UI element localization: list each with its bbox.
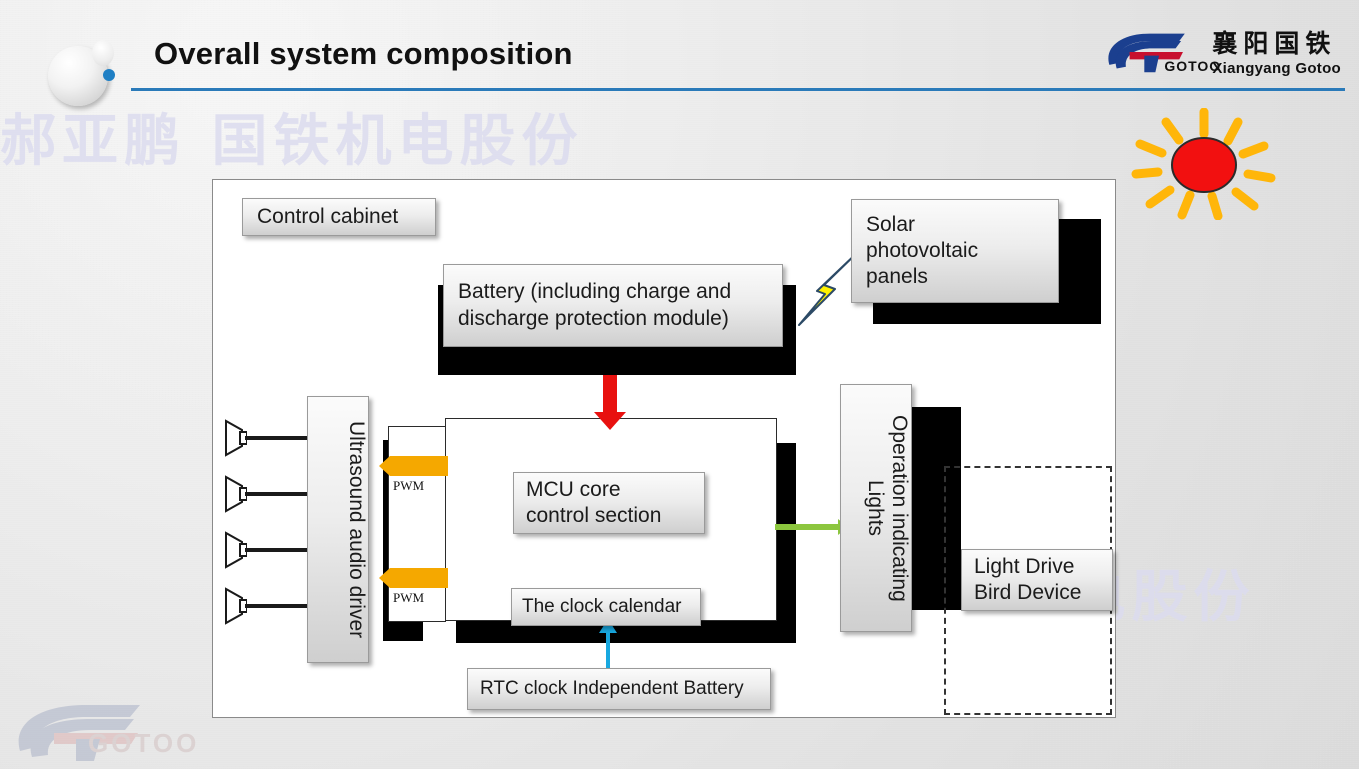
speaker-wire	[245, 492, 308, 496]
brand-english-name: Xiangyang Gotoo	[1212, 61, 1341, 76]
speaker-icon	[223, 587, 247, 625]
system-diagram-frame: PWM PWM Control cabinet Battery (includi…	[212, 179, 1116, 718]
battery-label: Battery (including charge and discharge …	[458, 279, 768, 332]
indicator-signal-arrow	[775, 524, 839, 530]
brand-logo-top-right: GOTOO 襄阳国铁 Xiangyang Gotoo	[1102, 24, 1341, 82]
brand-chinese-name: 襄阳国铁	[1212, 31, 1341, 56]
decorative-sphere-small-icon	[92, 40, 114, 66]
operation-lights-label: Operation indicating Lights	[841, 385, 911, 631]
pwm-arrow-top	[390, 456, 448, 476]
clock-calendar-label: The clock calendar	[522, 596, 681, 618]
pwm-label-top: PWM	[393, 478, 424, 494]
clock-calendar-box[interactable]: The clock calendar	[511, 588, 701, 626]
speaker-icon	[223, 419, 247, 457]
mcu-core-label: MCU core control section	[526, 477, 661, 528]
speaker-icon	[223, 475, 247, 513]
watermark-text-top: 郝亚鹏 国铁机电股份	[0, 96, 584, 177]
light-drive-bird-box[interactable]: Light Drive Bird Device	[961, 549, 1113, 611]
pwm-label-bottom: PWM	[393, 590, 424, 606]
control-cabinet-box[interactable]: Control cabinet	[242, 198, 436, 236]
power-flow-arrow	[603, 375, 617, 413]
rtc-battery-box[interactable]: RTC clock Independent Battery	[467, 668, 771, 710]
control-cabinet-label: Control cabinet	[257, 205, 398, 229]
pwm-arrow-bottom	[390, 568, 448, 588]
gotoo-wordmark: GOTOO	[1164, 58, 1221, 74]
solar-panels-label: Solar photovoltaic panels	[866, 212, 978, 290]
sun-icon	[1130, 108, 1278, 220]
solar-panels-box[interactable]: Solar photovoltaic panels	[851, 199, 1059, 303]
decorative-dot-icon	[103, 69, 115, 81]
speaker-wire	[245, 604, 308, 608]
rtc-battery-label: RTC clock Independent Battery	[480, 678, 744, 700]
page-title: Overall system composition	[154, 36, 573, 72]
operation-lights-box[interactable]: Operation indicating Lights	[840, 384, 912, 632]
mcu-core-box[interactable]: MCU core control section	[513, 472, 705, 534]
light-drive-bird-label: Light Drive Bird Device	[974, 554, 1081, 605]
ultrasound-driver-box[interactable]: Ultrasound audio driver	[307, 396, 369, 663]
title-underline	[131, 88, 1345, 91]
speaker-icon	[223, 531, 247, 569]
slide-canvas: Overall system composition 郝亚鹏 国铁机电股份 郝亚…	[0, 0, 1359, 769]
speaker-wire	[245, 436, 308, 440]
speaker-wire	[245, 548, 308, 552]
gotoo-wordmark-watermark: GOTOO	[88, 728, 199, 759]
battery-box[interactable]: Battery (including charge and discharge …	[443, 264, 783, 347]
brand-logo-watermark: GOTOO	[10, 699, 225, 765]
ultrasound-driver-label: Ultrasound audio driver	[308, 421, 368, 638]
